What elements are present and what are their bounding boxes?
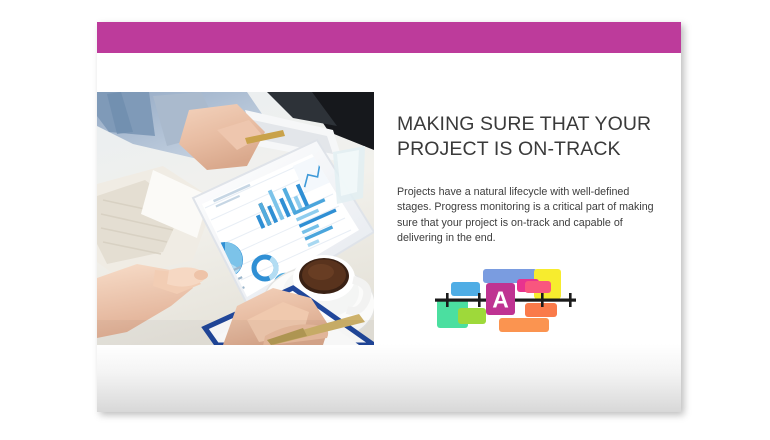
slide-banner [97, 22, 681, 53]
page-canvas: MAKING SURE THAT YOUR PROJECT IS ON-TRAC… [0, 0, 770, 440]
business-people-tablet-charts-photo [97, 92, 374, 345]
badge-letter: A [492, 287, 509, 313]
orange-bar-lower [499, 318, 549, 332]
lime-bar [458, 308, 486, 324]
slide-footer-band [97, 344, 681, 412]
pink-bar [525, 281, 551, 293]
page-title: MAKING SURE THAT YOUR PROJECT IS ON-TRAC… [397, 112, 655, 162]
slide-text-column: MAKING SURE THAT YOUR PROJECT IS ON-TRAC… [397, 112, 655, 246]
presentation-slide: MAKING SURE THAT YOUR PROJECT IS ON-TRAC… [97, 22, 681, 412]
blue-bar-small [451, 282, 480, 296]
body-paragraph: Projects have a natural lifecycle with w… [397, 185, 655, 246]
gantt-timeline-icon: A [433, 260, 578, 338]
